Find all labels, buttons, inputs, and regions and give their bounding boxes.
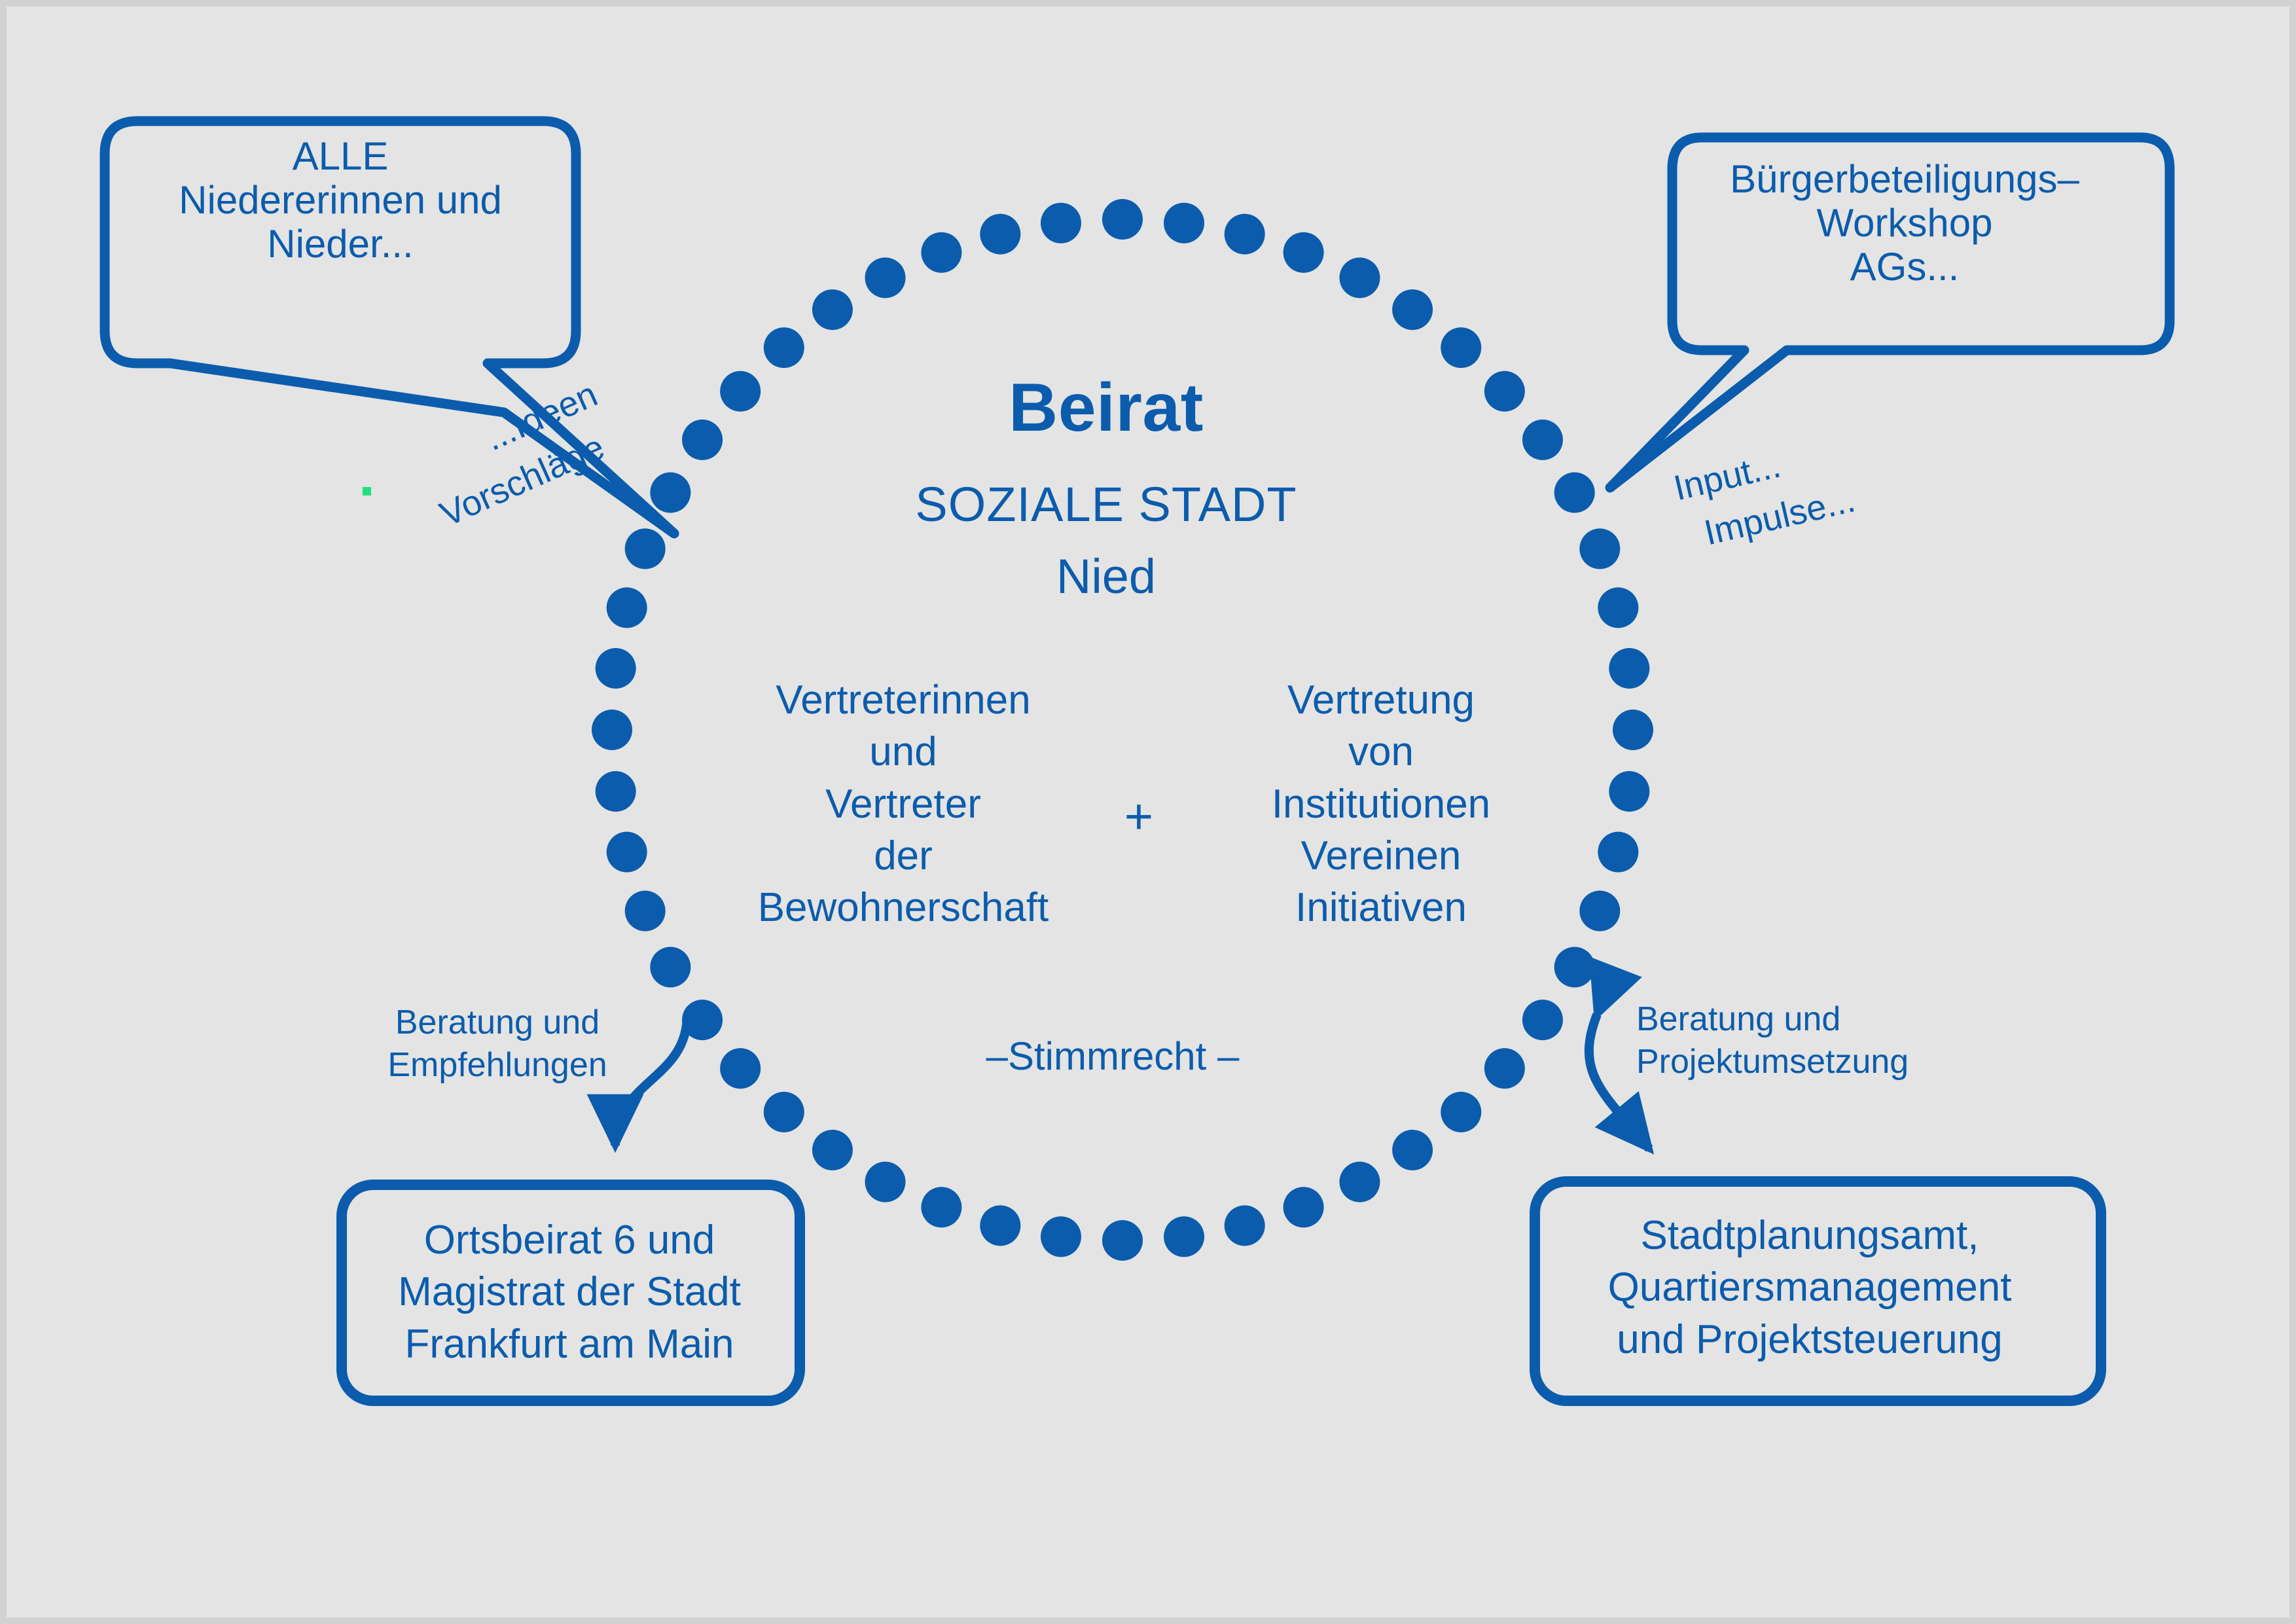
bubble-right-shape[interactable] [1610,137,2170,488]
circle-dot [1164,203,1204,244]
diagram-canvas: ALLE Niedererinnen und Nieder... Bürgerb… [0,0,2296,1624]
circle-dot [1041,1216,1081,1257]
dotted-circle [592,199,1653,1261]
circle-dot [921,232,961,273]
circle-dot [592,710,632,750]
green-artifact-dot [363,487,371,496]
circle-dot [1164,1216,1204,1257]
circle-dot [1484,1048,1525,1089]
circle-dot [596,648,636,689]
box-bottom-left[interactable] [342,1185,800,1401]
circle-dot [1102,1220,1143,1261]
circle-dot [607,832,647,873]
circle-dot [1484,371,1525,412]
circle-dot [812,289,853,330]
circle-dot [764,1092,804,1132]
circle-dot [1579,528,1620,569]
circle-dot [1554,947,1595,987]
circle-dot [650,947,691,987]
circle-dot [1609,648,1649,689]
circle-dot [1041,203,1081,244]
circle-dot [1598,832,1638,873]
circle-dot [1441,1092,1481,1132]
diagram-vector-layer [7,7,2296,1624]
circle-dot [865,1162,906,1202]
bubble-left-shape[interactable] [105,121,674,533]
circle-dot [1579,891,1620,931]
circle-dot [1522,1000,1563,1040]
circle-dot [1339,257,1380,298]
circle-dot [865,257,906,298]
circle-dot [720,371,761,412]
circle-dot [682,420,723,460]
circle-dot [1225,214,1265,255]
circle-dot [596,771,636,812]
circle-dot [980,214,1020,255]
arrow-beratung-empfehlungen [615,1015,687,1146]
circle-dot [1522,420,1563,460]
circle-dot [1339,1162,1380,1202]
circle-dot [1392,289,1433,330]
circle-dot [1283,1187,1324,1227]
circle-dot [720,1048,761,1089]
arrow-beratung-projektumsetzung [1589,1015,1649,1149]
circle-dot [921,1187,961,1227]
circle-dot [607,587,647,628]
circle-dot [1554,473,1595,513]
circle-dot [812,1130,853,1170]
circle-dot [1441,327,1481,368]
circle-dot [1102,199,1143,240]
circle-dot [625,528,666,569]
circle-dot [980,1205,1020,1246]
circle-dot [1392,1130,1433,1170]
box-bottom-right[interactable] [1535,1182,2101,1401]
circle-dot [650,473,691,513]
circle-dot [1613,710,1653,750]
circle-dot [1609,771,1649,812]
circle-dot [764,327,804,368]
circle-dot [1225,1205,1265,1246]
circle-dot [1598,587,1638,628]
circle-dot [625,891,666,931]
circle-dot [1283,232,1324,273]
